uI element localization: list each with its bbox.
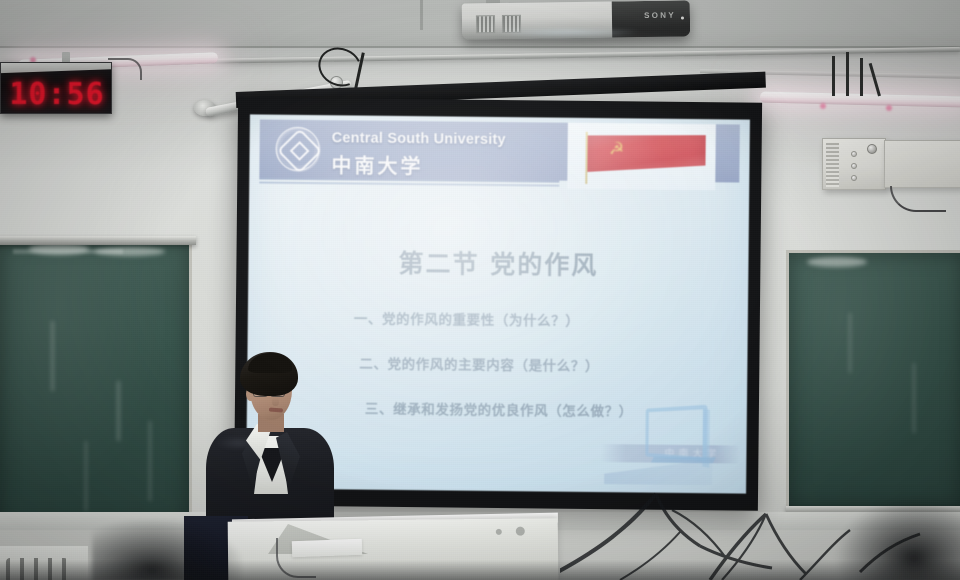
blackboard-right <box>786 250 960 512</box>
ceiling-joint-line <box>420 0 423 30</box>
control-knob[interactable] <box>851 151 857 157</box>
wall-panel <box>884 140 960 188</box>
volume-dial[interactable] <box>867 144 877 154</box>
control-knob[interactable] <box>851 163 857 169</box>
light-glow-dot <box>820 103 826 109</box>
lectern-hole <box>516 527 525 536</box>
list-item: 二、党的作风的主要内容（是什么？） <box>353 352 743 376</box>
foreground-bottom-shadow <box>0 560 960 580</box>
projector-wall-shadow <box>452 36 702 52</box>
university-chinese-name: 中南大学 <box>331 149 423 179</box>
antenna-rod <box>860 58 863 96</box>
clock-mount-strip <box>0 62 112 73</box>
antenna-rod <box>832 56 835 96</box>
slide-title: 第二节 党的作风 <box>248 242 748 283</box>
control-knob[interactable] <box>851 175 857 181</box>
list-item: 一、党的作风的重要性（为什么？） <box>354 307 744 331</box>
nose <box>272 397 279 406</box>
wall-control-box[interactable]: 广播 <box>822 138 886 190</box>
monitor-screen-outline <box>645 405 707 462</box>
projector-brand-logo: SONY <box>644 11 676 20</box>
light-glow-dot <box>886 105 892 111</box>
hammer-sickle-icon: ☭ <box>606 140 628 158</box>
speaker-grille <box>826 143 839 187</box>
monitor-outline-icon <box>640 407 725 478</box>
digital-clock: 10:56 <box>0 62 112 114</box>
projector-led <box>681 16 684 19</box>
blackboard-left <box>0 238 192 528</box>
lecture-hall-photo: 10:56 SONY 广播 Ce <box>0 0 960 580</box>
clock-power-wire <box>108 58 142 80</box>
antenna-rod <box>846 52 849 96</box>
seal-ring <box>276 128 320 172</box>
lectern-hole <box>496 529 502 535</box>
university-english-name: Central South University <box>332 130 506 148</box>
header-underline-secondary <box>259 181 559 186</box>
clock-time-display: 10:56 <box>5 77 109 111</box>
chalk-rail-left <box>0 236 196 245</box>
monitor-stand <box>651 457 716 464</box>
csu-seal-icon <box>275 127 319 171</box>
